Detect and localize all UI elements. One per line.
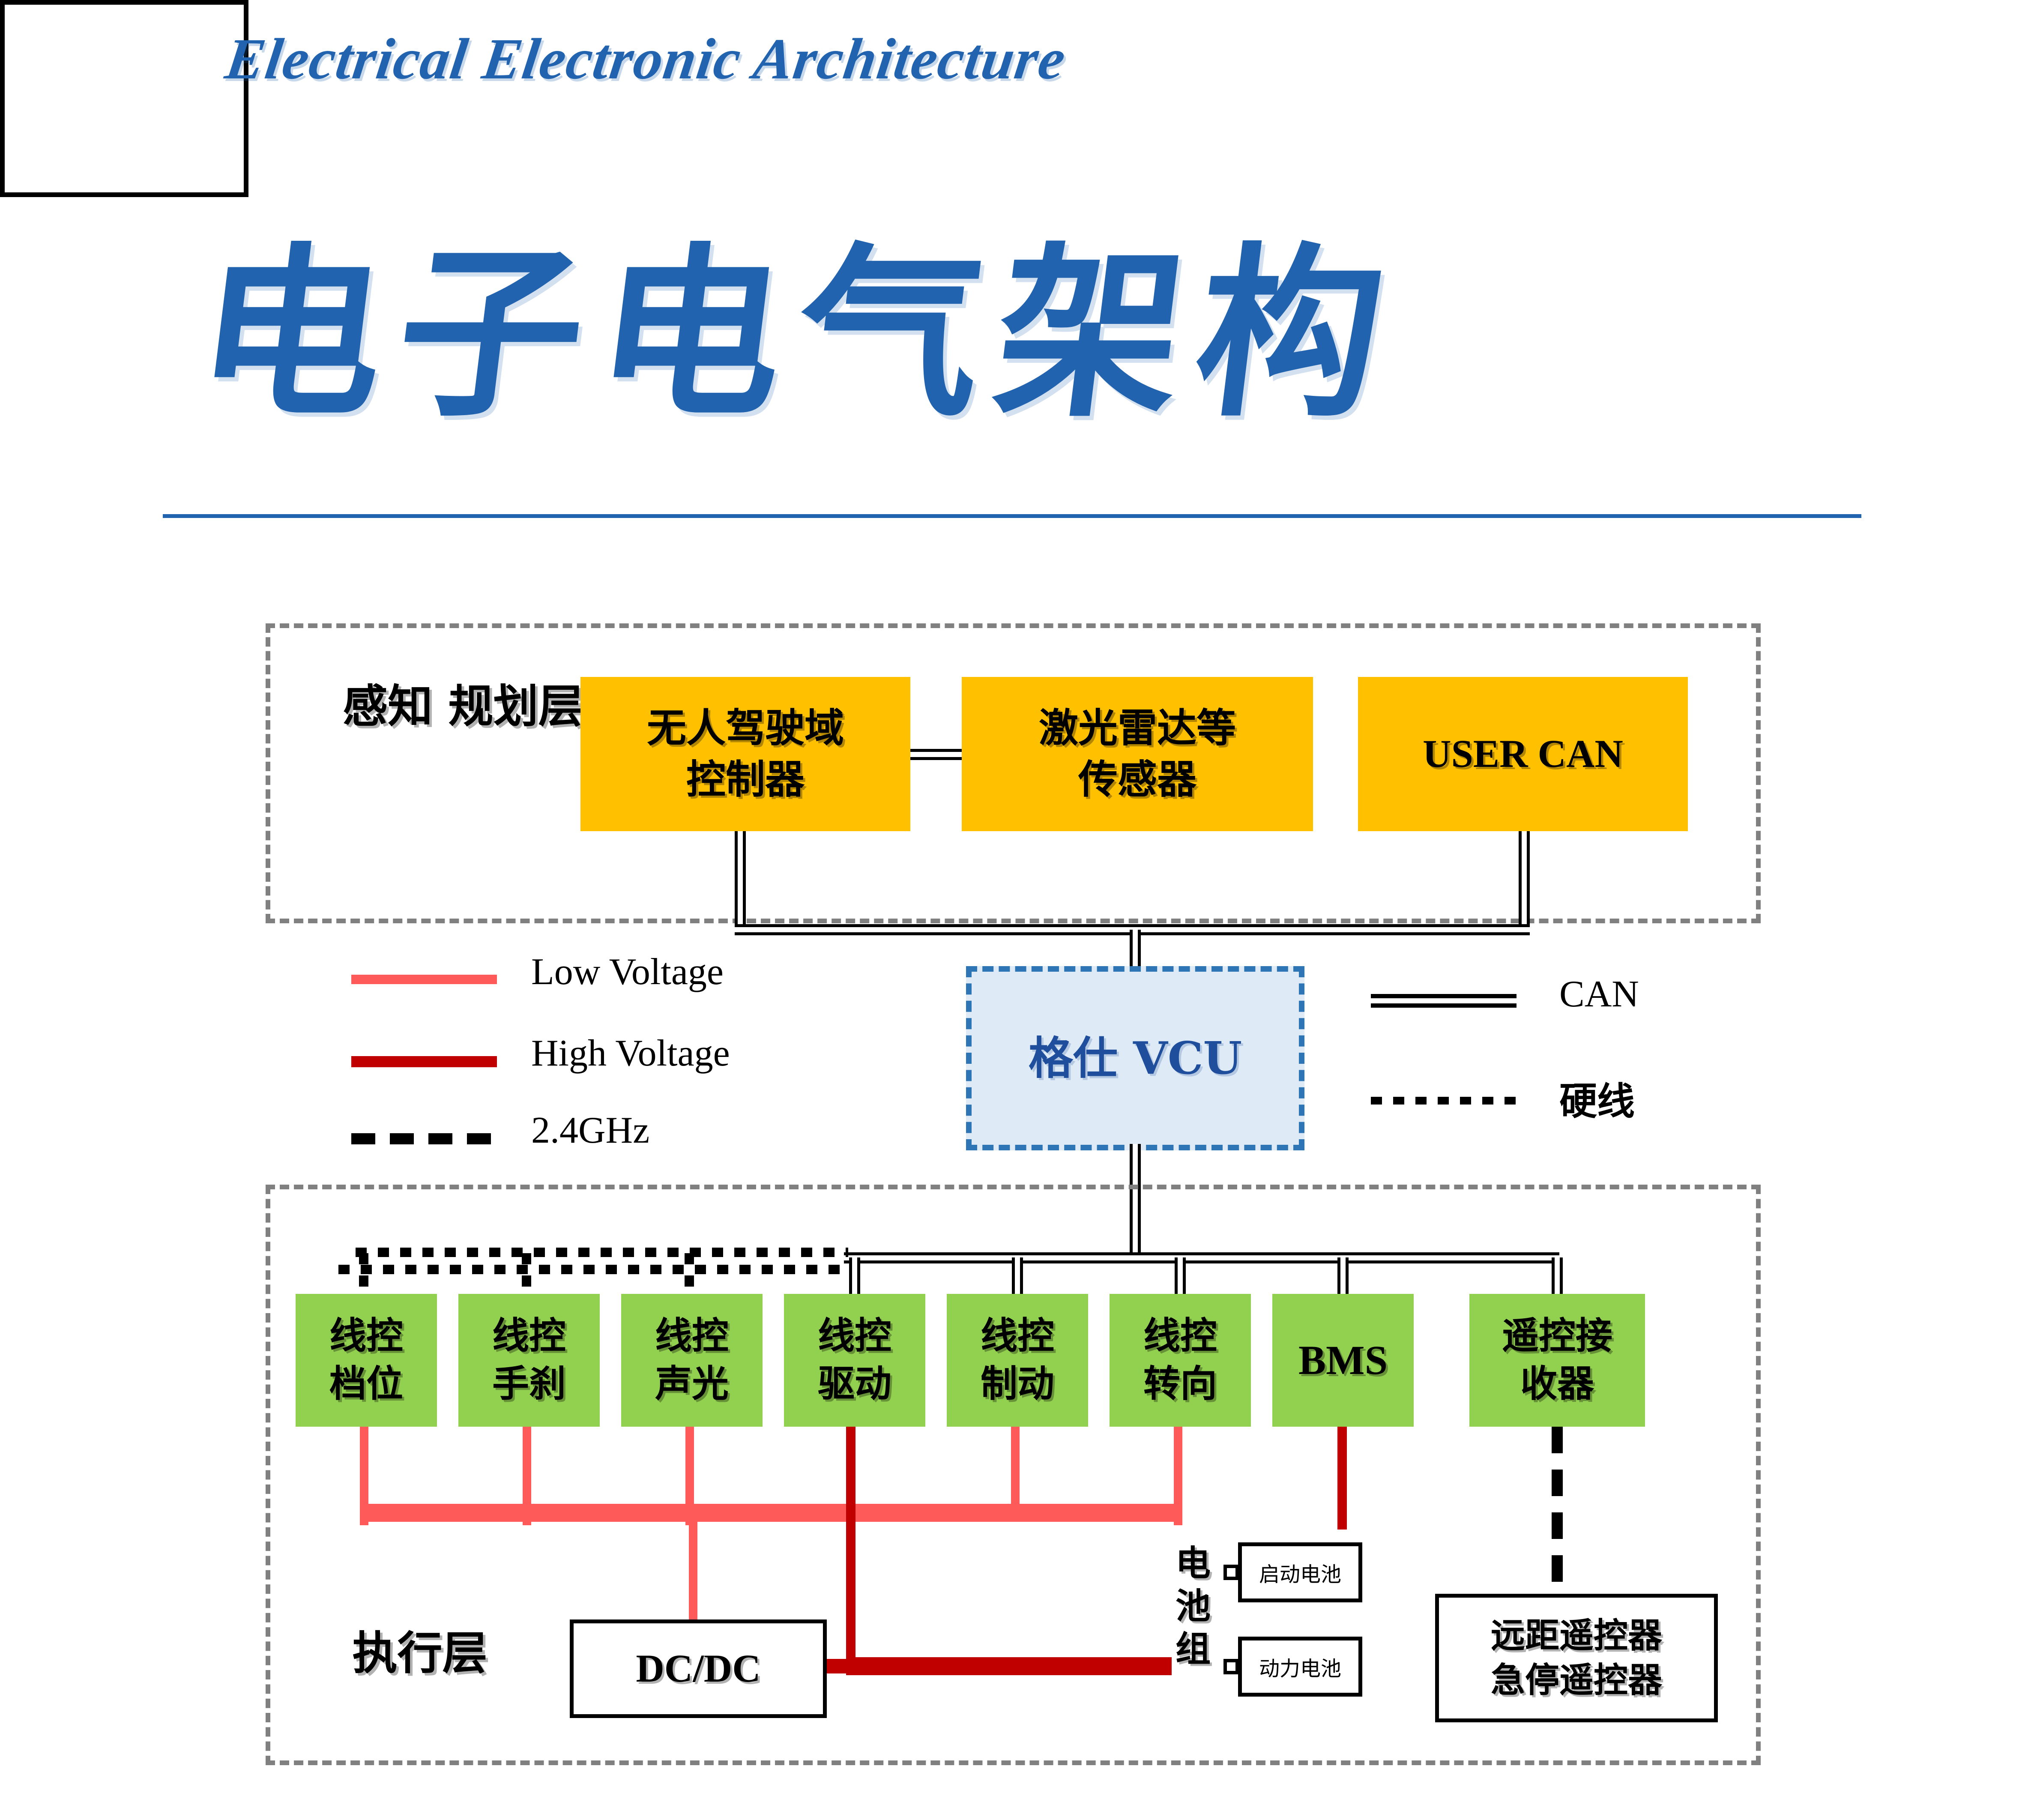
wire-can-drop-drive xyxy=(849,1257,860,1296)
wire-lv-bus xyxy=(360,1504,1182,1522)
wire-hardwire-drop-gear xyxy=(359,1253,368,1296)
wire-lv-to-dcdc xyxy=(689,1517,697,1624)
battery-cell-traction-terminal-icon xyxy=(1223,1659,1239,1674)
legend-24ghz-swatch xyxy=(351,1133,497,1144)
legend-high-voltage-swatch xyxy=(351,1056,497,1067)
node-drive-by-wire-gear[interactable]: 线控 档位 xyxy=(296,1294,437,1427)
wire-hardwire-bus xyxy=(356,1248,848,1257)
battery-cell-traction: 动力电池 xyxy=(1238,1637,1362,1697)
wire-hardwire-bus-2 xyxy=(338,1265,848,1274)
legend-low-voltage-label: Low Voltage xyxy=(531,950,724,994)
legend-hardwire-swatch xyxy=(1371,1097,1517,1105)
execution-layer-label: 执行层 xyxy=(338,1624,501,1683)
perception-layer-label: 感知 规划层 xyxy=(343,677,506,736)
legend-high-voltage-label: High Voltage xyxy=(531,1032,730,1075)
legend-can-label: CAN xyxy=(1559,973,1639,1016)
node-vcu[interactable]: 格仕 VCU xyxy=(966,966,1304,1150)
wire-hardwire-drop-handbrake xyxy=(522,1253,531,1296)
diagram-canvas: Electrical Electronic Architecture 电子电气架… xyxy=(0,0,2040,1820)
wire-hv-bms-to-battery xyxy=(1337,1427,1347,1530)
wire-can-usercan-drop xyxy=(1519,831,1530,930)
legend-can-swatch xyxy=(1371,994,1517,1008)
wire-hv-dcdc-to-battery xyxy=(825,1659,1163,1673)
english-title: Electrical Electronic Architecture xyxy=(221,26,1070,93)
wire-hv-drive-drop xyxy=(846,1427,855,1667)
node-drive-by-wire-steering[interactable]: 线控 转向 xyxy=(1110,1294,1251,1427)
node-dcdc-converter[interactable]: DC/DC xyxy=(570,1619,827,1718)
battery-pack-label: 电池组 xyxy=(1174,1542,1212,1671)
node-lidar-sensors[interactable]: 激光雷达等 传感器 xyxy=(962,677,1313,831)
wire-hardwire-drop-sound xyxy=(685,1253,694,1296)
legend-low-voltage-swatch xyxy=(351,975,497,984)
legend-24ghz-label: 2.4GHz xyxy=(531,1109,649,1152)
wire-lv-drop-brake xyxy=(1011,1427,1020,1512)
wire-can-drop-rcrx xyxy=(1552,1257,1563,1296)
battery-cell-starter-terminal-icon xyxy=(1223,1565,1239,1580)
title-divider-rule xyxy=(163,514,1861,518)
chinese-title: 电子电气架构 xyxy=(185,184,1415,451)
legend-hardwire-label: 硬线 xyxy=(1559,1071,1635,1126)
node-autonomous-domain-controller[interactable]: 无人驾驶域 控制器 xyxy=(580,677,910,831)
wire-can-lower-bus xyxy=(844,1252,1559,1263)
node-remote-receiver[interactable]: 遥控接 收器 xyxy=(1469,1294,1645,1427)
wire-can-drop-brake xyxy=(1012,1257,1023,1296)
node-drive-by-wire-brake[interactable]: 线控 制动 xyxy=(947,1294,1088,1427)
wire-can-drop-steer xyxy=(1175,1257,1186,1296)
wire-can-adc-drop xyxy=(735,831,746,930)
wire-rf-24ghz-remote xyxy=(1552,1427,1563,1596)
wire-can-drop-bms xyxy=(1337,1257,1349,1296)
node-drive-by-wire-propulsion[interactable]: 线控 驱动 xyxy=(784,1294,925,1427)
node-user-can[interactable]: USER CAN xyxy=(1358,677,1688,831)
node-bms[interactable]: BMS xyxy=(1272,1294,1414,1427)
node-battery-pack[interactable] xyxy=(0,0,248,197)
wire-can-adc-to-lidar xyxy=(910,749,962,760)
node-remote-controllers[interactable]: 远距遥控器 急停遥控器 xyxy=(1435,1594,1718,1722)
battery-cell-starter: 启动电池 xyxy=(1238,1542,1362,1602)
node-drive-by-wire-handbrake[interactable]: 线控 手刹 xyxy=(458,1294,600,1427)
node-drive-by-wire-sound-light[interactable]: 线控 声光 xyxy=(621,1294,763,1427)
